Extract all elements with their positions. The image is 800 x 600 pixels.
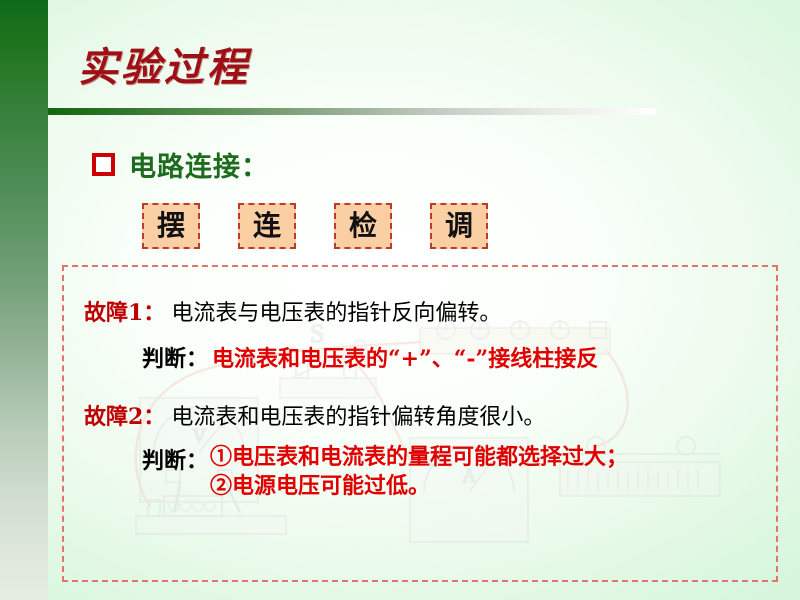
- step-box-bai[interactable]: 摆: [142, 203, 200, 249]
- fault-2-judge-answer-1: ①电压表和电流表的量程可能都选择过大；: [210, 443, 628, 472]
- square-bullet-icon: [92, 153, 115, 176]
- step-box-lian[interactable]: 连: [238, 203, 296, 249]
- fault-text-block: 故障1： 电流表与电压表的指针反向偏转。 判断： 电流表和电压表的“+”、“-”…: [62, 265, 778, 582]
- fault-2-body: 电流表和电压表的指针偏转角度很小。: [171, 399, 545, 431]
- step-box-jian[interactable]: 检: [334, 203, 392, 249]
- fault-1-judge-answer: 电流表和电压表的“+”、“-”接线柱接反: [212, 341, 598, 373]
- block-spacer: [84, 373, 778, 399]
- page-title: 实验过程: [78, 35, 250, 93]
- fault-2-line: 故障2： 电流表和电压表的指针偏转角度很小。: [84, 399, 778, 431]
- section-bullet-label: 电路连接：: [129, 145, 269, 184]
- slide-canvas: 实验过程 V A S: [0, 0, 800, 600]
- fault-2-judge-answer-2: ②电源电压可能过低。: [210, 472, 628, 501]
- fault-2-head: 故障2：: [84, 399, 165, 431]
- fault-1-body: 电流表与电压表的指针反向偏转。: [171, 295, 501, 327]
- left-accent-bar: [0, 0, 48, 600]
- fault-1-judge-head: 判断：: [142, 341, 208, 373]
- fault-1-judge-line: 判断： 电流表和电压表的“+”、“-”接线柱接反: [84, 341, 778, 373]
- section-bullet-row: 电路连接：: [92, 145, 269, 184]
- header-divider: [48, 108, 656, 115]
- step-box-tiao[interactable]: 调: [430, 203, 488, 249]
- step-box-group: 摆 连 检 调: [142, 203, 488, 249]
- fault-1-line: 故障1： 电流表与电压表的指针反向偏转。: [84, 295, 778, 327]
- fault-2-judge-line: 判断： ①电压表和电流表的量程可能都选择过大； ②电源电压可能过低。: [84, 443, 778, 500]
- fault-1-head: 故障1：: [84, 295, 165, 327]
- fault-2-judge-answers: ①电压表和电流表的量程可能都选择过大； ②电源电压可能过低。: [210, 443, 628, 500]
- fault-2-judge-head: 判断：: [142, 443, 208, 475]
